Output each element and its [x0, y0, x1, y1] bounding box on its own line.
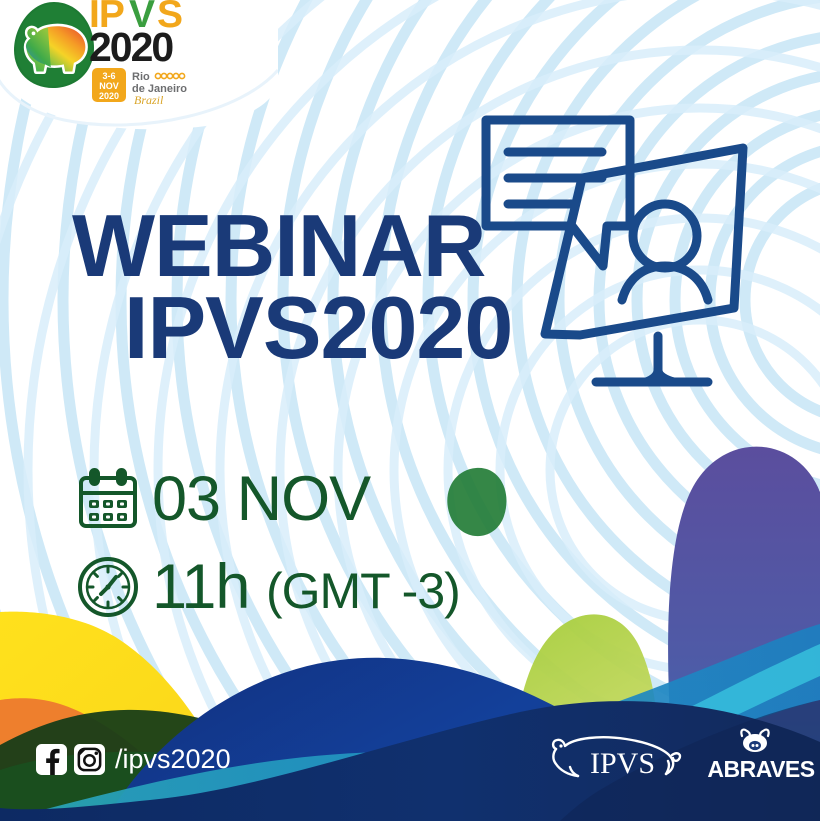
ipvs-2020-event-badge: IP V S 2020 3-6 NOV 2020 Rio de Janeiro [0, 0, 278, 132]
svg-text:Brazil: Brazil [134, 93, 164, 106]
event-date-text: 03 NOV [152, 468, 370, 531]
monitor-with-speech-bubble-and-person-icon [462, 108, 752, 398]
event-date-value: 03 NOV [152, 464, 370, 534]
event-time-row: 11h (GMT -3) [76, 543, 596, 631]
calendar-icon [76, 467, 140, 531]
badge-wordmark: IP V S 2020 3-6 NOV 2020 Rio de Janeiro [89, 0, 219, 99]
footer-logos: IPVS ABRAVES [548, 727, 798, 785]
badge-date-location: 3-6 NOV 2020 Rio de Janeiro Brazil [92, 66, 222, 106]
ipvs-pig-logo: IPVS [548, 735, 696, 779]
instagram-icon[interactable] [74, 744, 105, 775]
badge-year: 2020 [89, 27, 172, 68]
pig-logo-icon [8, 0, 98, 92]
social-handle[interactable]: /ipvs2020 [115, 746, 231, 773]
event-timezone-value: (GMT -3) [266, 563, 460, 619]
svg-text:IPVS: IPVS [590, 747, 655, 779]
svg-text:Rio: Rio [132, 71, 150, 83]
social-links[interactable]: /ipvs2020 [36, 744, 231, 775]
facebook-icon[interactable] [36, 744, 67, 775]
svg-text:2020: 2020 [99, 91, 119, 101]
event-time-text: 11h (GMT -3) [152, 556, 460, 619]
event-date-row: 03 NOV [76, 455, 596, 543]
event-time-value: 11h [152, 552, 266, 622]
webinar-poster: IP V S 2020 3-6 NOV 2020 Rio de Janeiro [0, 0, 820, 821]
abraves-logo: ABRAVES [706, 727, 816, 783]
event-details: 03 NOV 11h (GMT -3) [76, 455, 596, 631]
clock-icon [76, 555, 140, 619]
svg-text:3-6: 3-6 [102, 71, 115, 81]
svg-text:NOV: NOV [99, 81, 119, 91]
svg-text:ABRAVES: ABRAVES [707, 756, 814, 782]
